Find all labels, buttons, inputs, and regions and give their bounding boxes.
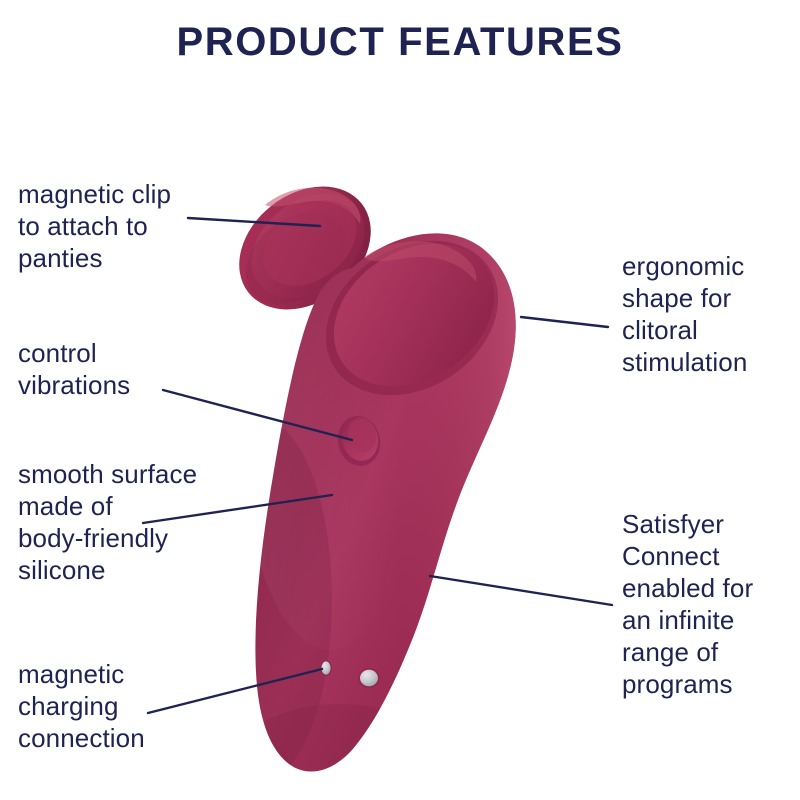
leader-line-satisfyer-connect [430, 576, 612, 605]
callout-satisfyer-connect: Satisfyer Connect enabled for an infinit… [622, 508, 794, 700]
callout-smooth-surface: smooth surface made of body-friendly sil… [18, 458, 243, 586]
callout-magnetic-charging: magnetic charging connection [18, 658, 233, 754]
product-features-infographic: PRODUCT FEATURES [0, 0, 800, 800]
callout-control-vibrations: control vibrations [18, 337, 233, 401]
leader-line-ergonomic-shape [521, 317, 608, 327]
callout-ergonomic-shape: ergonomic shape for clitoral stimulation [622, 250, 794, 378]
charging-contact-large [358, 668, 380, 688]
callout-magnetic-clip: magnetic clip to attach to panties [18, 178, 233, 274]
